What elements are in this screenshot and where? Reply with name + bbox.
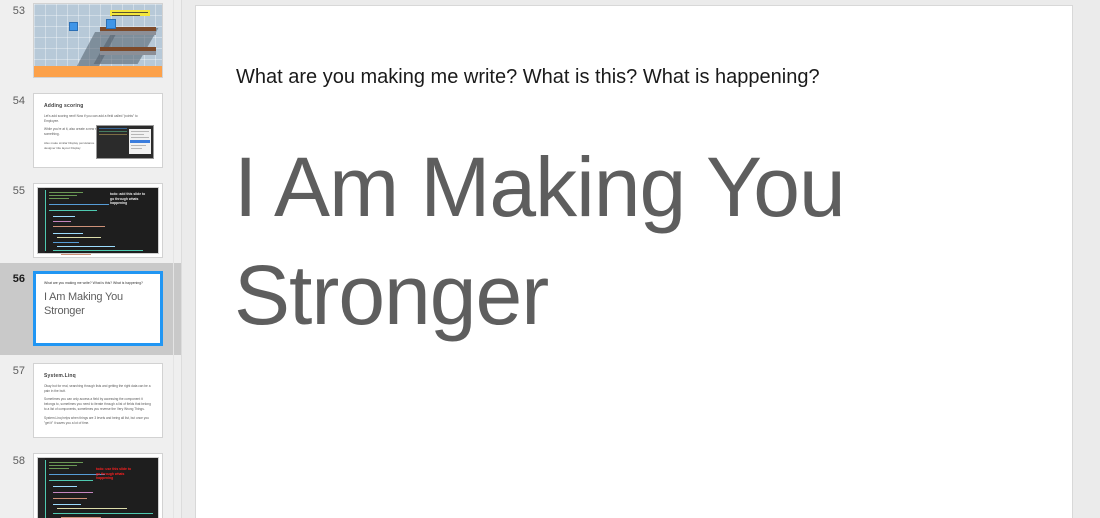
slide-number: 58 (0, 453, 33, 467)
scene-player-cube (106, 19, 116, 29)
thumb-paragraph: Okay but for real, searching through lis… (44, 384, 152, 394)
thumb-subtitle: What are you making me write? What is th… (44, 281, 152, 285)
slide-thumbnail-item[interactable]: 55 (0, 173, 182, 263)
thumb-title-slide: What are you making me write? What is th… (36, 274, 160, 343)
thumb-title: I Am Making You Stronger (44, 291, 152, 319)
code-window: todo: use this slide to go through whats… (37, 457, 159, 518)
thumb-game-scene (34, 4, 162, 77)
thumb-embedded-screenshot (96, 125, 154, 159)
slide-thumbnail-frame[interactable] (33, 3, 163, 78)
thumb-paragraph: Sometimes you can only access a field by… (44, 397, 152, 412)
slide-subtitle-text[interactable]: What are you making me write? What is th… (236, 66, 820, 89)
code-annotation: todo: add this slide to go through whats… (110, 192, 158, 206)
thumb-text-slide: Adding scoring Let's add scoring next! N… (34, 94, 162, 167)
scene-ground (34, 66, 162, 77)
code-gutter (38, 188, 45, 253)
slide-number: 55 (0, 183, 33, 197)
slide-thumbnail-frame[interactable]: todo: add this slide to go through whats… (33, 183, 163, 258)
slide-thumbnail-item-selected[interactable]: 56 What are you making me write? What is… (0, 263, 182, 355)
slide-number: 56 (0, 271, 33, 285)
thumb-text-slide: System.Linq Okay but for real, searching… (34, 364, 162, 437)
code-window: todo: add this slide to go through whats… (37, 187, 159, 254)
slide-number: 53 (0, 3, 33, 17)
code-gutter (38, 458, 45, 518)
slide-thumbnail-frame[interactable]: Adding scoring Let's add scoring next! N… (33, 93, 163, 168)
thumb-bullets: Also make similar Display persistance de… (44, 141, 96, 150)
stage-right-margin (1090, 0, 1100, 518)
slide-thumbnail-item[interactable]: 54 Adding scoring Let's add scoring next… (0, 83, 182, 173)
slide-number: 57 (0, 363, 33, 377)
slide-thumbnail-pane[interactable]: 53 (0, 0, 182, 518)
slide-thumbnail-item[interactable]: 53 (0, 0, 182, 83)
thumb-heading: System.Linq (44, 373, 152, 379)
scene-banner (110, 10, 150, 16)
scene-cube (69, 22, 78, 31)
presentation-editor: 53 (0, 0, 1100, 518)
slide-number: 54 (0, 93, 33, 107)
slide-thumbnail-item[interactable]: 58 (0, 443, 182, 518)
code-annotation: todo: use this slide to go through whats… (96, 467, 158, 481)
slide-thumbnail-list: 53 (0, 0, 182, 518)
slide-thumbnail-frame[interactable]: todo: use this slide to go through whats… (33, 453, 163, 518)
code-accent-bar (45, 460, 46, 518)
thumb-code-screenshot: todo: use this slide to go through whats… (34, 454, 162, 518)
code-accent-bar (45, 190, 46, 251)
scene-platform (100, 47, 156, 51)
slide-thumbnail-frame[interactable]: What are you making me write? What is th… (33, 271, 163, 346)
thumb-code-screenshot: todo: add this slide to go through whats… (34, 184, 162, 257)
thumb-heading: Adding scoring (44, 103, 152, 109)
active-slide-canvas[interactable]: What are you making me write? What is th… (196, 6, 1072, 518)
pane-inner-divider (173, 0, 174, 518)
slide-thumbnail-frame[interactable]: System.Linq Okay but for real, searching… (33, 363, 163, 438)
slide-thumbnail-item[interactable]: 57 System.Linq Okay but for real, search… (0, 355, 182, 443)
thumb-paragraph: System.Linq helps when things are 3 leve… (44, 416, 152, 426)
slide-stage[interactable]: What are you making me write? What is th… (182, 0, 1100, 518)
slide-title-text[interactable]: I Am Making You Stronger (234, 134, 1042, 349)
thumb-paragraph: Let's add scoring next! Now if you can a… (44, 114, 152, 124)
